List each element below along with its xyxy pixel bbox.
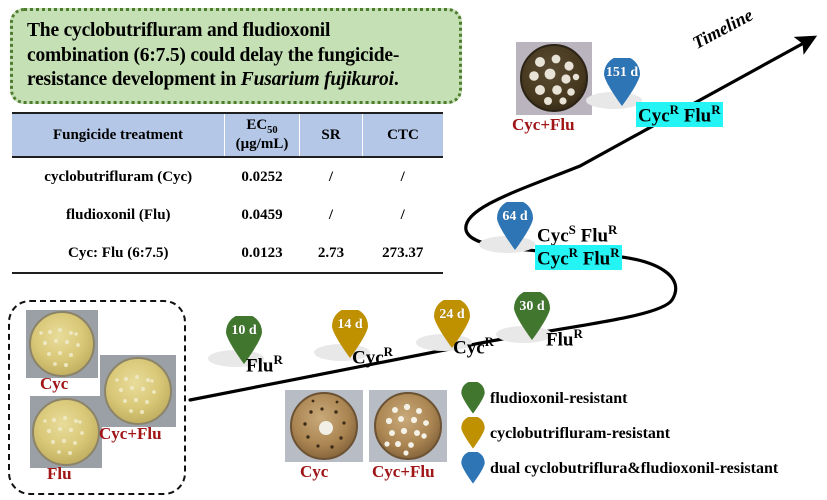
title-callout-box: The cyclobutrifluram and fludioxonil com… xyxy=(10,8,462,104)
cell-ctc: / xyxy=(363,157,444,196)
annotation-24d: CycR xyxy=(453,334,494,359)
th-fungicide-treatment: Fungicide treatment xyxy=(12,113,225,157)
map-pin-icon xyxy=(460,452,486,484)
caption-cyc-panel: Cyc xyxy=(40,374,68,394)
annotation-24d-base: Cyc xyxy=(453,337,485,358)
marker-day-label: 64 d xyxy=(495,209,535,225)
title-line-3b: . xyxy=(394,69,399,90)
annotation-151d-s2: R xyxy=(711,102,720,117)
cell-treatment: Cyc: Flu (6:7.5) xyxy=(12,234,225,273)
graphical-abstract: The cyclobutrifluram and fludioxonil com… xyxy=(0,0,827,500)
caption-flu-panel: Flu xyxy=(47,464,72,484)
annotation-151d-s1: R xyxy=(670,102,679,117)
cell-treatment: fludioxonil (Flu) xyxy=(12,196,225,234)
legend-pin-blue xyxy=(460,452,486,486)
th-fungicide-treatment-label: Fungicide treatment xyxy=(53,127,183,143)
dashed-petri-panel xyxy=(8,300,186,495)
marker-day-label: 30 d xyxy=(512,299,552,315)
annotation-64d-line2-highlighted: CycR FluR xyxy=(535,245,622,270)
cell-sr: / xyxy=(300,157,363,196)
ec50-table-wrapper: Fungicide treatment EC50 (μg/mL) SR CTC xyxy=(12,112,440,274)
th-sr: SR xyxy=(300,113,363,157)
caption-cycflu-top: Cyc+Flu xyxy=(512,115,575,135)
legend-label: fludioxonil-resistant xyxy=(490,390,628,408)
annotation-24d-sup: R xyxy=(485,334,494,349)
marker-day-label: 10 d xyxy=(224,323,264,339)
th-ec50-units: (μg/mL) xyxy=(236,136,289,152)
annotation-64d-l1-s1: S xyxy=(569,222,576,237)
table-header-row: Fungicide treatment EC50 (μg/mL) SR CTC xyxy=(12,113,443,157)
timeline-marker-64d[interactable]: 64 d xyxy=(495,202,535,254)
annotation-64d-l2-s1: R xyxy=(569,245,578,260)
th-ec50: EC50 (μg/mL) xyxy=(225,113,300,157)
annotation-64d-l2-s2: R xyxy=(610,245,619,260)
caption-cyc-middle: Cyc xyxy=(300,462,328,482)
cell-ec50: 0.0123 xyxy=(225,234,300,273)
caption-cycflu-middle: Cyc+Flu xyxy=(372,462,435,482)
map-pin-icon xyxy=(460,382,486,414)
cell-ec50: 0.0459 xyxy=(225,196,300,234)
legend-label: cyclobutrifluram-resistant xyxy=(490,425,670,443)
annotation-64d-l1-b2: Flu xyxy=(581,225,608,246)
legend-pin-gold xyxy=(460,417,486,451)
title-line-2: combination (6:7.5) could delay the fung… xyxy=(27,45,399,66)
table-row: Cyc: Flu (6:7.5) 0.0123 2.73 273.37 xyxy=(12,234,443,273)
caption-cycflu-panel: Cyc+Flu xyxy=(99,424,162,444)
th-ec50-main: EC xyxy=(246,117,267,133)
cell-ec50: 0.0252 xyxy=(225,157,300,196)
map-pin-icon xyxy=(460,417,486,449)
cell-sr: / xyxy=(300,196,363,234)
legend-label: dual cyclobutriflura&fludioxonil-resista… xyxy=(490,460,778,478)
title-text: The cyclobutrifluram and fludioxonil com… xyxy=(27,19,399,93)
annotation-14d-sup: R xyxy=(384,344,393,359)
cell-ctc: 273.37 xyxy=(363,234,444,273)
annotation-30d-sup: R xyxy=(573,326,582,341)
th-ctc: CTC xyxy=(363,113,444,157)
ec50-table: Fungicide treatment EC50 (μg/mL) SR CTC xyxy=(12,112,443,274)
table-row: fludioxonil (Flu) 0.0459 / / xyxy=(12,196,443,234)
annotation-64d-l2-b2: Flu xyxy=(583,248,610,269)
annotation-10d-base: Flu xyxy=(246,355,273,376)
annotation-151d-b2: Flu xyxy=(684,105,711,126)
legend-item-cyclobutrifluram-resistant: cyclobutrifluram-resistant xyxy=(460,417,825,452)
annotation-10d: FluR xyxy=(246,352,283,377)
legend: fludioxonil-resistant cyclobutrifluram-r… xyxy=(460,382,825,487)
annotation-64d-l1-b1: Cyc xyxy=(537,225,569,246)
cell-treatment: cyclobutrifluram (Cyc) xyxy=(12,157,225,196)
annotation-64d-l2-b1: Cyc xyxy=(537,248,569,269)
annotation-151d-b1: Cyc xyxy=(638,105,670,126)
title-line-3a: resistance development in xyxy=(27,69,241,90)
cell-ctc: / xyxy=(363,196,444,234)
th-ctc-label: CTC xyxy=(387,127,419,143)
cell-sr: 2.73 xyxy=(300,234,363,273)
marker-day-label: 24 d xyxy=(432,307,472,323)
th-sr-label: SR xyxy=(321,127,340,143)
th-ec50-sub: 50 xyxy=(267,125,278,136)
table-row: cyclobutrifluram (Cyc) 0.0252 / / xyxy=(12,157,443,196)
marker-day-label: 151 d xyxy=(602,65,642,81)
annotation-64d-l1-s2: R xyxy=(608,222,617,237)
annotation-30d-base: Flu xyxy=(546,329,573,350)
legend-item-dual-resistant: dual cyclobutriflura&fludioxonil-resista… xyxy=(460,452,825,487)
table-body: cyclobutrifluram (Cyc) 0.0252 / / fludio… xyxy=(12,157,443,273)
title-species-name: Fusarium fujikuroi xyxy=(241,69,394,90)
annotation-14d: CycR xyxy=(352,344,393,369)
marker-day-label: 14 d xyxy=(330,317,370,333)
annotation-14d-base: Cyc xyxy=(352,347,384,368)
annotation-30d: FluR xyxy=(546,326,583,351)
annotation-10d-sup: R xyxy=(273,352,282,367)
legend-item-fludioxonil-resistant: fludioxonil-resistant xyxy=(460,382,825,417)
legend-pin-green xyxy=(460,382,486,416)
annotation-64d-line1: CycS FluR xyxy=(537,222,617,247)
annotation-151d-highlighted: CycR FluR xyxy=(636,102,723,127)
title-line-1: The cyclobutrifluram and fludioxonil xyxy=(27,20,330,41)
